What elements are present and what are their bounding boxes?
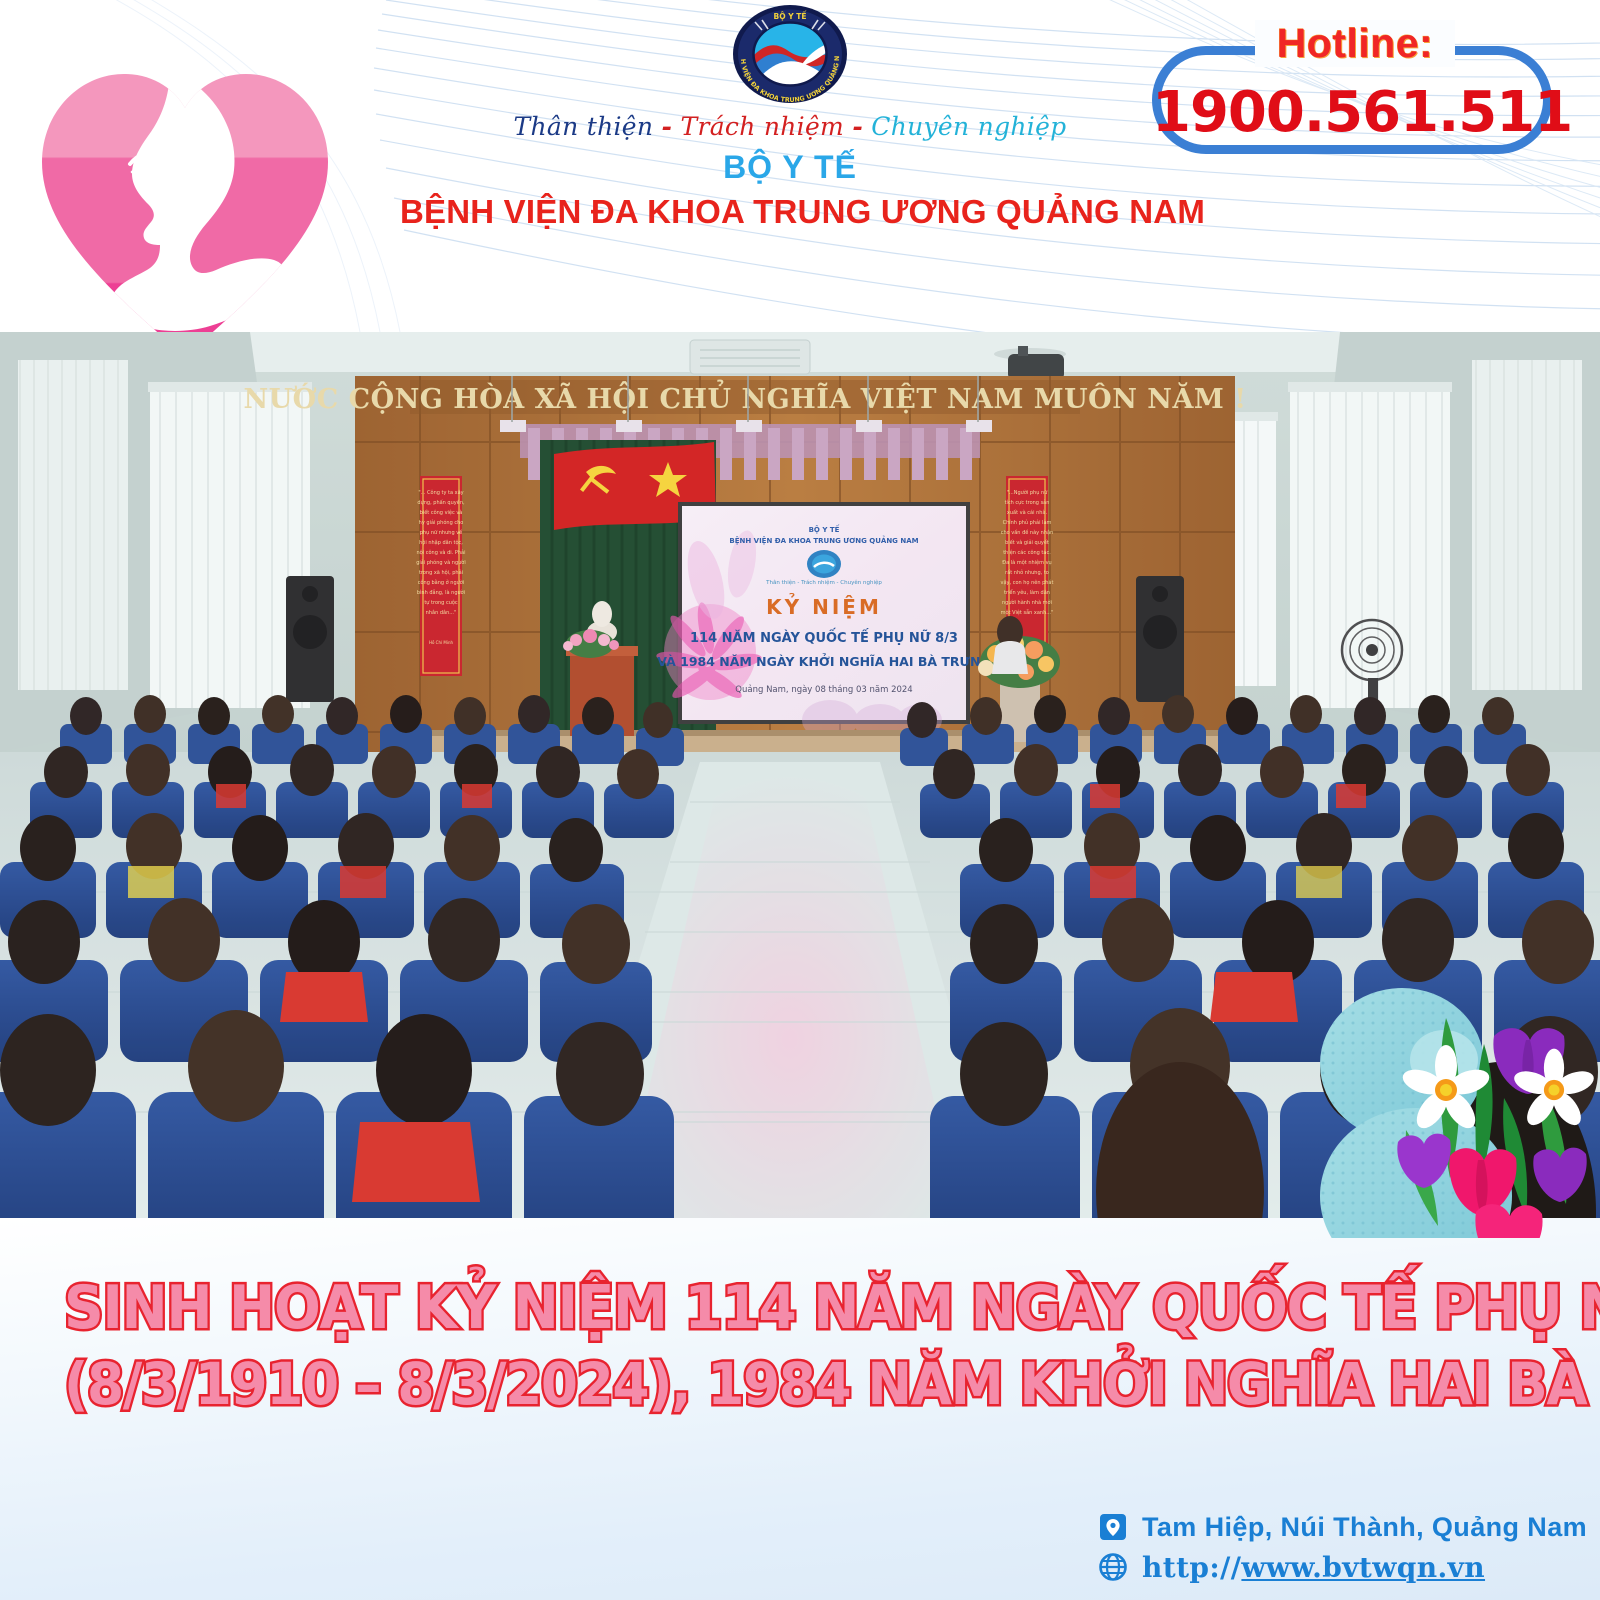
ministry-label: BỘ Y TẾ [400,149,1180,186]
address-row: Tam Hiệp, Núi Thành, Quảng Nam [1096,1510,1576,1544]
location-pin-icon [1096,1510,1130,1544]
hospital-slogan: Thân thiện - Trách nhiệm - Chuyên nghiệp [400,112,1180,141]
svg-text:BỘ Y TẾ: BỘ Y TẾ [774,11,808,21]
website-row[interactable]: http://www.bvtwqn.vn [1096,1550,1576,1584]
eight-march-flowers-ornament [1298,978,1600,1238]
contact-block: Tam Hiệp, Núi Thành, Quảng Nam http://ww… [1096,1504,1576,1584]
slogan-part-2: Trách nhiệm [680,112,844,141]
hotline-number[interactable]: 1900.561.511 [1152,80,1552,145]
website-scheme: http:// [1142,1551,1241,1584]
slogan-separator-1: - [662,112,673,141]
slogan-part-1: Thân thiện [514,112,654,141]
address-text: Tam Hiệp, Núi Thành, Quảng Nam [1142,1512,1587,1543]
bottom-caption-band: SINH HOẠT KỶ NIỆM 114 NĂM NGÀY QUỐC TẾ P… [0,1218,1600,1600]
brand-block: BỘ Y TẾ BỆNH VIỆN ĐA KHOA TRUNG ƯƠNG QUẢ… [400,4,1180,231]
hotline-label: Hotline: [1255,20,1455,67]
slogan-separator-2: - [852,112,863,141]
website-domain[interactable]: www.bvtwqn.vn [1241,1551,1485,1584]
women-heart-logo [20,38,350,332]
slogan-part-3: Chuyên nghiệp [871,112,1066,141]
hospital-name-title: BỆNH VIỆN ĐA KHOA TRUNG ƯƠNG QUẢNG NAM [400,193,1180,231]
page-header: BỘ Y TẾ BỆNH VIỆN ĐA KHOA TRUNG ƯƠNG QUẢ… [0,0,1600,332]
event-title-block: SINH HOẠT KỶ NIỆM 114 NĂM NGÀY QUỐC TẾ P… [0,1270,1600,1421]
globe-icon [1096,1550,1130,1584]
event-title-line-2: (8/3/1910 – 8/3/2024), 1984 NĂM KHỞI NGH… [64,1347,1536,1421]
event-title-line-1: SINH HOẠT KỶ NIỆM 114 NĂM NGÀY QUỐC TẾ P… [64,1270,1536,1347]
website-text[interactable]: http://www.bvtwqn.vn [1142,1551,1485,1584]
hospital-emblem-icon: BỘ Y TẾ BỆNH VIỆN ĐA KHOA TRUNG ƯƠNG QUẢ… [731,4,849,108]
